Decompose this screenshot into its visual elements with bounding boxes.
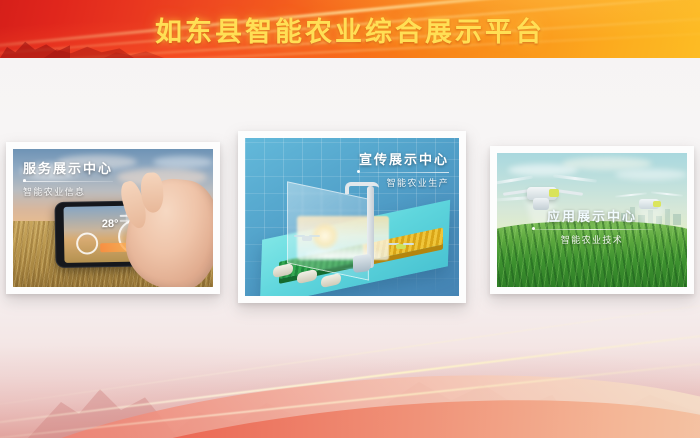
card-application-caption: 应用展示中心 智能农业技术 [532, 209, 652, 246]
water-bucket [353, 254, 371, 274]
caption-divider [532, 229, 652, 230]
card-service-title: 服务展示中心 [23, 161, 113, 177]
card-application-subtitle: 智能农业技术 [532, 233, 652, 246]
card-promotion-image: 宣传展示中心 智能农业生产 [245, 138, 459, 296]
header-banner: 如东县智能农业综合展示平台 [0, 0, 700, 58]
card-application-image: 应用展示中心 智能农业技术 [497, 153, 687, 287]
card-service-caption: 服务展示中心 智能农业信息 [23, 161, 113, 198]
card-promotion-title: 宣传展示中心 [359, 152, 449, 168]
cloud-icon [562, 157, 652, 170]
card-gallery: 28° 服务展示中心 智能农业信息 [0, 0, 700, 438]
caption-divider [359, 172, 449, 173]
card-promotion-display-center[interactable]: 宣传展示中心 智能农业生产 [238, 131, 466, 303]
cloud-icon [153, 156, 213, 168]
drone-icon [297, 234, 317, 241]
caption-divider [23, 181, 113, 182]
drone-icon [391, 242, 411, 249]
page-title: 如东县智能农业综合展示平台 [0, 0, 700, 58]
card-application-display-center[interactable]: 应用展示中心 智能农业技术 [490, 146, 694, 294]
hud-gauge-icon [76, 232, 98, 254]
hud-temperature: 28° [102, 218, 119, 230]
card-service-display-center[interactable]: 28° 服务展示中心 智能农业信息 [6, 142, 220, 294]
page-root: 如东县智能农业综合展示平台 28° [0, 0, 700, 438]
card-application-title: 应用展示中心 [532, 209, 652, 225]
hand-illustration [122, 174, 213, 287]
card-promotion-subtitle: 智能农业生产 [359, 176, 449, 189]
cloud-icon [615, 169, 687, 180]
card-promotion-caption: 宣传展示中心 智能农业生产 [359, 152, 449, 189]
card-service-subtitle: 智能农业信息 [23, 185, 113, 198]
card-service-image: 28° 服务展示中心 智能农业信息 [13, 149, 213, 287]
